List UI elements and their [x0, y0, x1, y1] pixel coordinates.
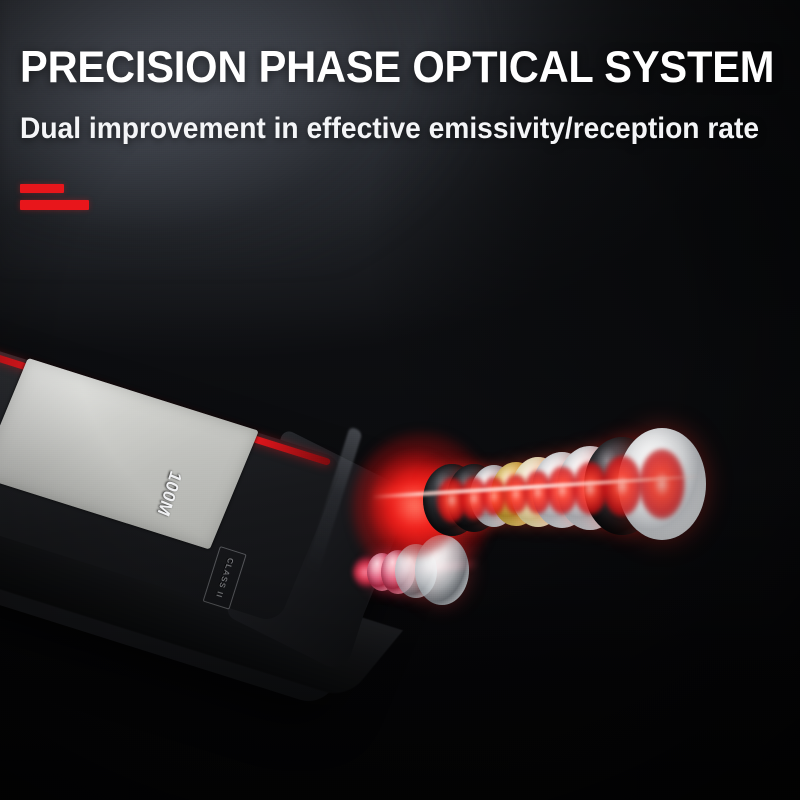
product-banner: Laser Distance Meter 100M CLASS II PRECI… — [0, 0, 800, 800]
accent-bar-short — [20, 184, 64, 193]
accent-bar-long — [20, 200, 89, 210]
accent-bars — [20, 184, 89, 210]
page-subtitle: Dual improvement in effective emissivity… — [20, 114, 755, 145]
page-title: PRECISION PHASE OPTICAL SYSTEM — [20, 46, 736, 91]
